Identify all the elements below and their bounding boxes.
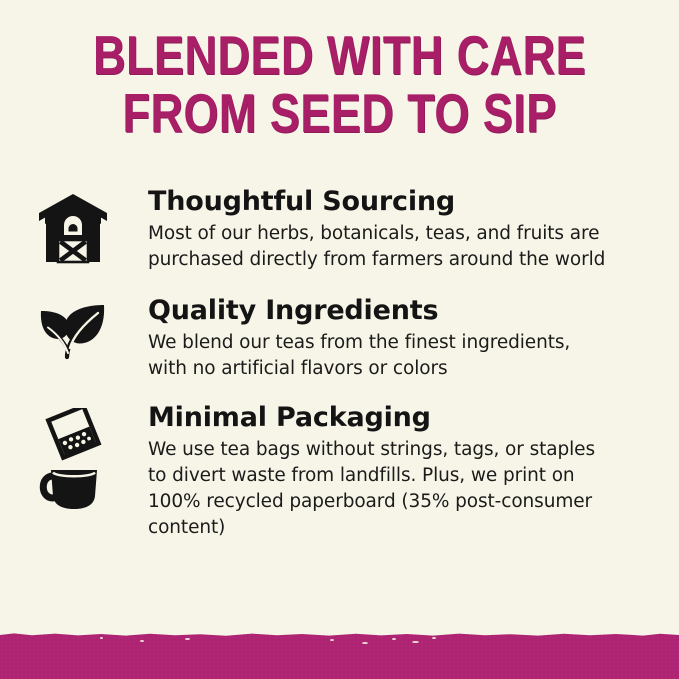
- feature-text-block: Minimal Packaging We use tea bags withou…: [130, 402, 608, 541]
- band-speck: [140, 640, 144, 642]
- band-speck: [330, 639, 334, 641]
- feature-body: Most of our herbs, botanicals, teas, and…: [148, 221, 608, 273]
- feature-text-block: Quality Ingredients We blend our teas fr…: [130, 295, 608, 382]
- page-title: BLENDED WITH CARE FROM SEED TO SIP: [61, 26, 618, 142]
- feature-title: Thoughtful Sourcing: [148, 186, 608, 218]
- feature-title: Quality Ingredients: [148, 295, 608, 327]
- band-speck: [432, 637, 436, 639]
- feature-item-quality-ingredients: Quality Ingredients We blend our teas fr…: [0, 295, 679, 382]
- feature-title: Minimal Packaging: [148, 402, 608, 434]
- feature-item-minimal-packaging: Minimal Packaging We use tea bags withou…: [0, 402, 679, 541]
- feature-item-thoughtful-sourcing: Thoughtful Sourcing Most of our herbs, b…: [0, 186, 679, 273]
- headline-line-2: FROM SEED TO SIP: [61, 84, 618, 142]
- feature-body: We blend our teas from the finest ingred…: [148, 330, 608, 382]
- band-speck: [185, 638, 190, 640]
- leaves-icon: [34, 295, 130, 363]
- feature-text-block: Thoughtful Sourcing Most of our herbs, b…: [130, 186, 608, 273]
- band-speck: [392, 638, 396, 640]
- band-speck: [412, 641, 419, 643]
- barn-icon: [34, 186, 130, 266]
- feature-list: Thoughtful Sourcing Most of our herbs, b…: [0, 186, 679, 541]
- band-speck: [100, 637, 103, 639]
- bottom-accent-band: [0, 632, 679, 679]
- band-speck: [362, 642, 368, 644]
- feature-body: We use tea bags without strings, tags, o…: [148, 437, 608, 541]
- teabag-mug-icon: [34, 402, 130, 512]
- marketing-poster: BLENDED WITH CARE FROM SEED TO SIP: [0, 0, 679, 679]
- headline-line-1: BLENDED WITH CARE: [61, 26, 618, 84]
- band-texture: [0, 632, 679, 679]
